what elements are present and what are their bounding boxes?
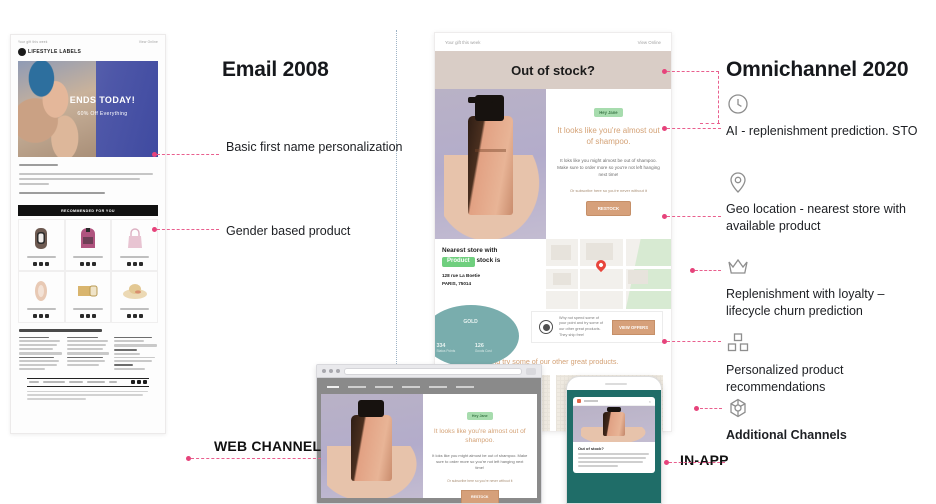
omni-subscribe-link[interactable]: Or subscribe here so you're never withou… — [557, 188, 660, 193]
omni-store-row: Nearest store with Product stock is 128 … — [435, 239, 671, 309]
annotation-text: Replenishment with loyalty – lifecycle c… — [726, 286, 926, 320]
web-copy-panel: Hey Jane It looks like you're almost out… — [423, 394, 537, 498]
omni-copy-panel: Hey Jane It looks like you're almost out… — [546, 89, 671, 239]
map-pin-icon — [594, 258, 608, 272]
omni-banner-title: Out of stock? — [511, 63, 595, 78]
annotation-loyalty-replenishment: Replenishment with loyalty – lifecycle c… — [726, 255, 926, 320]
connector-line — [718, 71, 719, 123]
nav-item[interactable] — [402, 386, 420, 388]
in-app-copy: Out of stock? — [573, 442, 655, 473]
app-icon — [577, 399, 581, 403]
store-address-line2: PARIS, 75014 — [442, 281, 539, 288]
nearest-store-block: Nearest store with Product stock is 128 … — [435, 239, 546, 309]
hero-headline: ENDS TODAY! — [55, 95, 150, 105]
map-road — [546, 266, 671, 269]
web-headline: It looks like you're almost out of shamp… — [432, 428, 528, 446]
social-icons[interactable] — [131, 380, 147, 384]
hat-icon — [120, 277, 150, 304]
connector-line — [700, 123, 720, 124]
annotation-gender-based-product: Gender based product — [226, 223, 416, 240]
browser-chrome — [317, 365, 541, 378]
email-legal-text — [27, 391, 149, 400]
product-cell[interactable] — [18, 219, 65, 271]
store-map[interactable] — [546, 239, 671, 309]
map-block — [551, 245, 571, 260]
view-offers-button[interactable]: VIEW OFFERS — [612, 320, 655, 335]
annotation-text: AI - replenishment prediction. STO — [726, 123, 926, 140]
infographic-canvas: Email 2008 Omnichannel 2020 Your gift th… — [0, 0, 936, 504]
omni-banner: Out of stock? — [435, 51, 671, 89]
app-name — [584, 400, 598, 402]
site-logo — [327, 386, 339, 388]
email-logo: LIFESTYLE LABELS — [11, 48, 165, 61]
recommended-bar-label: RECOMMENDED FOR YOU — [61, 209, 115, 213]
email-hero-banner: ENDS TODAY! 60% Off Everything — [18, 61, 158, 157]
in-app-mockup: × Out of stock? — [566, 376, 662, 504]
connector-dot — [694, 406, 699, 411]
email-footer — [19, 329, 157, 400]
watch-icon — [26, 225, 56, 252]
email-logo-text: LIFESTYLE LABELS — [28, 49, 81, 55]
connector-line — [667, 341, 721, 342]
in-app-message-card[interactable]: × Out of stock? — [573, 397, 655, 473]
web-channel-label: WEB CHANNEL — [214, 438, 321, 454]
nav-item[interactable] — [348, 386, 366, 388]
card-header: × — [573, 397, 655, 406]
crown-icon — [726, 255, 750, 279]
web-product-photo — [321, 394, 423, 498]
email-column-title: Email 2008 — [222, 58, 329, 82]
annotation-geo-location: Geo location - nearest store with availa… — [726, 170, 926, 235]
connector-line — [191, 458, 321, 459]
offer-card: Why not spend some of your point and try… — [531, 311, 663, 343]
close-icon[interactable]: × — [649, 399, 651, 404]
product-cell[interactable] — [111, 219, 158, 271]
footer-column — [114, 337, 157, 372]
in-app-product-photo — [573, 406, 655, 442]
phone-notch — [567, 377, 661, 390]
network-icon — [726, 396, 750, 420]
annotation-text: Geo location - nearest store with availa… — [726, 201, 926, 235]
personalization-badge: Hey Jane — [594, 108, 622, 117]
loyalty-points: 334Status Points — [436, 343, 455, 353]
web-paragraph: It loks like you might almost be out of … — [432, 453, 528, 471]
belt-icon — [73, 277, 103, 304]
hero-photo — [18, 61, 96, 157]
map-road — [546, 289, 671, 291]
browser-menu-icon[interactable] — [526, 368, 536, 375]
browser-nav-icons[interactable] — [322, 369, 340, 373]
omni-headline: It looks like you're almost out of shamp… — [557, 126, 660, 148]
omni-hero-row: Hey Jane It looks like you're almost out… — [435, 89, 671, 239]
offer-text: Why not spend some of your point and try… — [559, 316, 606, 339]
annotation-ai-replenishment: AI - replenishment prediction. STO — [726, 92, 926, 140]
loyalty-tier: GOLD — [463, 319, 477, 325]
store-title-1: Nearest store with — [442, 247, 539, 255]
product-cell[interactable] — [65, 219, 112, 271]
connector-line — [667, 216, 721, 217]
site-navigation[interactable] — [321, 382, 537, 391]
clock-icon — [726, 92, 750, 116]
product-cell[interactable] — [18, 271, 65, 323]
annotation-personalized-recommendations: Personalized product recommendations — [726, 331, 926, 396]
connector-line — [669, 462, 725, 463]
annotation-text: Additional Channels — [726, 427, 926, 444]
browser-address-bar[interactable] — [344, 368, 522, 375]
omni-loyalty-row: GOLD 334Status Points 126Goods Cost Why … — [435, 309, 671, 355]
map-road — [578, 239, 580, 309]
map-road — [623, 239, 626, 309]
in-app-title: Out of stock? — [578, 446, 650, 451]
bracelet-icon — [26, 277, 56, 304]
web-personalization-badge: Hey Jane — [467, 412, 493, 420]
handbag-icon — [120, 225, 150, 252]
product-cell[interactable] — [65, 271, 112, 323]
coin-icon — [539, 320, 553, 334]
restock-button[interactable]: RESTOCK — [586, 201, 631, 216]
annotation-additional-channels: Additional Channels — [726, 396, 926, 444]
shampoo-bottle — [468, 116, 512, 215]
shampoo-product-photo — [435, 89, 546, 239]
footer-heading — [19, 329, 102, 332]
omni-paragraph: It loks like you might almost be out of … — [557, 157, 660, 178]
nav-item[interactable] — [456, 386, 474, 388]
in-app-label: IN-APP — [680, 452, 729, 468]
footer-column — [19, 337, 62, 372]
product-chip: Product — [442, 257, 475, 267]
annotation-basic-personalization: Basic first name personalization — [226, 139, 416, 156]
product-cell[interactable] — [111, 271, 158, 323]
store-title-2: stock is — [476, 257, 500, 264]
connector-line — [157, 229, 219, 230]
map-block — [553, 273, 571, 286]
web-restock-button[interactable]: RESTOCK — [461, 490, 499, 504]
email-view-online-link[interactable]: View Online — [139, 40, 158, 44]
omnichannel-column-title: Omnichannel 2020 — [726, 58, 908, 82]
omni-preheader-left: Your gift this week — [445, 40, 480, 45]
email-body-copy — [11, 157, 165, 199]
web-subscribe-link[interactable]: Or subscribe here so you're never withou… — [432, 479, 528, 483]
web-page: Hey Jane It looks like you're almost out… — [317, 378, 541, 504]
web-content: Hey Jane It looks like you're almost out… — [321, 394, 537, 498]
email-2008-mockup: Your gift this week View Online LIFESTYL… — [10, 34, 166, 434]
loyalty-spend: 126Goods Cost — [475, 343, 492, 353]
map-block — [628, 270, 648, 284]
nav-item[interactable] — [375, 386, 393, 388]
footer-column — [67, 337, 110, 372]
web-channel-mockup: Hey Jane It looks like you're almost out… — [316, 364, 542, 504]
blocks-icon — [726, 331, 750, 355]
hero-subline: 60% Off Everything — [55, 111, 150, 117]
connector-line — [157, 154, 219, 155]
location-pin-icon — [726, 170, 750, 194]
connector-line — [667, 128, 721, 129]
logo-mark-icon — [18, 48, 26, 56]
map-block — [586, 243, 614, 260]
pump-nozzle-icon — [468, 97, 492, 103]
nav-item[interactable] — [429, 386, 447, 388]
omni-preheader: Your gift this week View Online — [435, 33, 671, 51]
email-preheader-left: Your gift this week — [18, 40, 48, 44]
bottle-label — [475, 149, 506, 152]
connector-line — [667, 71, 719, 72]
app-screen: × Out of stock? — [567, 390, 661, 504]
email-recommended-bar: RECOMMENDED FOR YOU — [18, 205, 158, 216]
backpack-icon — [73, 225, 103, 252]
omni-view-online-link[interactable]: View Online — [638, 40, 661, 45]
email-product-grid — [18, 219, 158, 323]
email-preheader: Your gift this week View Online — [11, 35, 165, 48]
annotation-text: Personalized product recommendations — [726, 362, 926, 396]
connector-line — [700, 408, 722, 409]
speaker-grill — [605, 383, 627, 385]
store-address-line1: 128 rue La Boetie — [442, 273, 539, 280]
email-footer-nav — [27, 378, 149, 387]
connector-line — [695, 270, 721, 271]
